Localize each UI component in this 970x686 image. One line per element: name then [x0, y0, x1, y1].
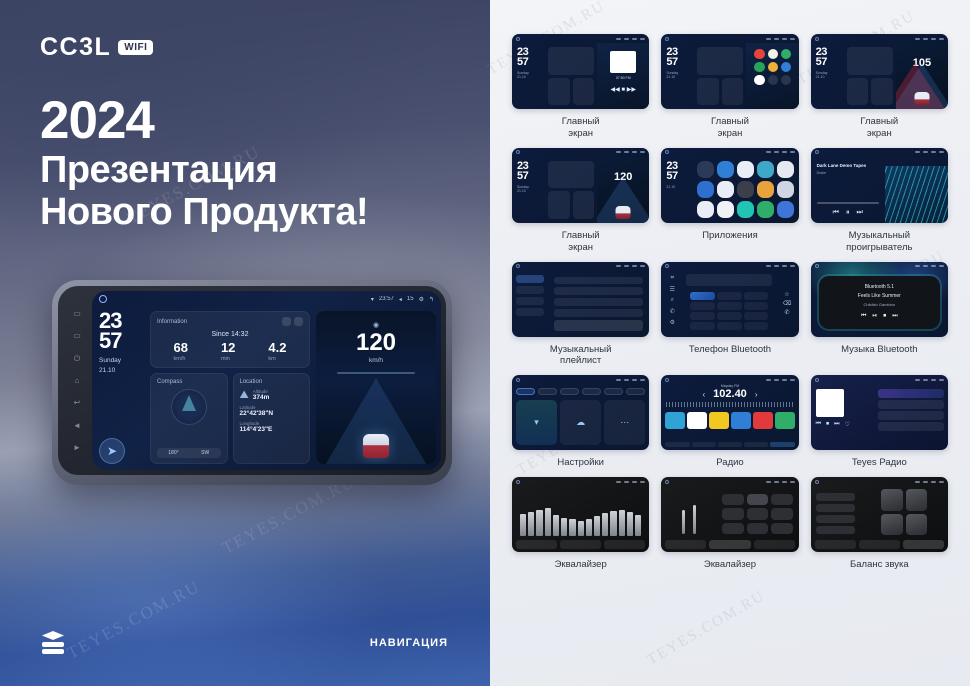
- more-card[interactable]: ⋯: [604, 400, 645, 445]
- tab-sound[interactable]: [538, 388, 557, 395]
- gallery-caption: Настройки: [557, 457, 604, 469]
- hero-panel: TEYES.COM.RU TEYES.COM.RU TEYES.COM.RU T…: [0, 0, 490, 686]
- next-icon[interactable]: ⏭: [892, 313, 897, 320]
- gallery-caption: Teyes Радио: [852, 457, 907, 469]
- altitude-value: 374m: [253, 394, 270, 401]
- logo-model: CC3L: [40, 33, 111, 62]
- gallery-item[interactable]: 2357Sunday21.10 105 Главный экран: [811, 34, 948, 140]
- thumbnail-radio[interactable]: Mayday FM ‹ 102.40 ›: [661, 375, 798, 450]
- longitude-value: 114°4'23"E: [240, 426, 304, 433]
- call-log-icon[interactable]: ✆: [670, 308, 675, 315]
- back-key[interactable]: ↩: [73, 398, 82, 407]
- dash-bezel: ▭ ▭ ⏻ ⌂ ↩ ◄ ► ▾ 23:57 ◂ 15: [58, 286, 446, 475]
- gallery-caption: Телефон Bluetooth: [689, 344, 771, 356]
- gallery-item[interactable]: Музыкальный плейлист: [512, 262, 649, 368]
- gallery-item[interactable]: Эквалайзер: [661, 477, 798, 571]
- location-card[interactable]: Location ⛰ Altitude 374m: [233, 373, 311, 464]
- home-key[interactable]: ⌂: [73, 376, 82, 385]
- information-card[interactable]: Information Since 14:32 68 km/h: [150, 311, 310, 368]
- speed-value: 120: [356, 331, 396, 355]
- gallery-caption: Баланс звука: [850, 559, 909, 571]
- altitude-row: ⛰ Altitude 374m: [240, 389, 304, 401]
- bluetooth-card[interactable]: Bluetooth 5.1 Feels Like Summer Childish…: [819, 276, 940, 329]
- clock-day: Sunday: [99, 357, 144, 365]
- refresh-icon[interactable]: [282, 317, 291, 326]
- thumbnail-bt-phone[interactable]: ⌗ ☰ ⌕ ✆ ⚙: [661, 262, 798, 337]
- stat-value: 4.2: [268, 341, 286, 354]
- thumbnail-settings[interactable]: ▾ ☁ ⋯: [512, 375, 649, 450]
- side-key-strip[interactable]: ▭ ▭ ⏻ ⌂ ↩ ◄ ►: [66, 302, 88, 459]
- clock-date: 21.10: [99, 367, 144, 375]
- gallery-item[interactable]: Эквалайзер: [512, 477, 649, 571]
- stat-unit: min: [221, 356, 235, 362]
- stop-icon[interactable]: ⏹: [883, 313, 886, 320]
- thumbnail-grid: 2357Sunday21.10 07:50 FM ◀◀ ■ ▶▶ Главный…: [512, 34, 948, 571]
- radio-next-icon[interactable]: ›: [755, 390, 758, 399]
- compass-title: Compass: [157, 379, 182, 385]
- stat-unit: km/h: [173, 356, 187, 362]
- gallery-item[interactable]: Dark Lane Demo Tapes Drake ⏮ ⏸ ⏭: [811, 148, 948, 254]
- gallery-caption: Музыкальный проигрыватель: [846, 230, 912, 254]
- eject-key[interactable]: ▭: [73, 331, 82, 340]
- compass-heading: 180°: [168, 450, 178, 456]
- stat-unit: km: [268, 356, 286, 362]
- equalizer-tabs[interactable]: [516, 540, 645, 549]
- thumbnail-teyes-radio[interactable]: ⏮ ⏹ ⏭ ♡: [811, 375, 948, 450]
- pause-icon[interactable]: ⏸: [846, 209, 850, 217]
- tab-wifi[interactable]: [516, 388, 535, 395]
- home-icon: [516, 37, 520, 41]
- radio-frequency: 102.40: [713, 388, 747, 400]
- album-art: [816, 389, 844, 417]
- location-title: Location: [240, 379, 263, 385]
- gallery-caption: Радио: [716, 457, 743, 469]
- watermark: TEYES.COM.RU: [645, 588, 769, 669]
- information-stats: 68 km/h 12 min 4.2 km: [157, 341, 303, 362]
- navigation-button[interactable]: ➤: [99, 438, 125, 464]
- gallery-item[interactable]: 235721.10 Приложения: [661, 148, 798, 254]
- gallery-item[interactable]: 2357Sunday21.10 120 Главный экран: [512, 148, 649, 254]
- gallery-row: 2357Sunday21.10 120 Главный экран: [512, 148, 948, 254]
- track-artist: Childish Gambino: [864, 302, 896, 307]
- gallery-item[interactable]: ⌗ ☰ ⌕ ✆ ⚙: [661, 262, 798, 368]
- contacts-icon[interactable]: ☰: [670, 286, 675, 293]
- gallery-caption: Главный экран: [562, 230, 600, 254]
- screens-gallery: TEYES.COM.RU TEYES.COM.RU TEYES.COM.RU T…: [490, 0, 970, 686]
- latitude-row: Latitude 22°42'38"N: [240, 405, 304, 417]
- clock-column: 23 57 Sunday 21.10 ➤: [99, 311, 144, 464]
- gallery-caption: Эквалайзер: [704, 559, 756, 571]
- headline: 2024 Презентация Нового Продукта!: [40, 93, 368, 234]
- previous-icon[interactable]: ⏮: [816, 421, 821, 428]
- compass-readout: 180° SW: [157, 448, 221, 458]
- stat-value: 68: [173, 341, 187, 354]
- album-art: [610, 51, 636, 73]
- gallery-row: Музыкальный плейлист ⌗ ☰ ⌕ ✆ ⚙: [512, 262, 948, 368]
- dialpad-icon[interactable]: ⌗: [671, 275, 674, 282]
- logo-wifi-badge: WIFI: [118, 40, 153, 55]
- bt-controls[interactable]: ⏮ ⏯ ⏹ ⏭: [861, 313, 898, 320]
- gallery-caption: Главный экран: [711, 116, 749, 140]
- presentation-page: TEYES.COM.RU TEYES.COM.RU TEYES.COM.RU T…: [0, 0, 970, 686]
- app-icon-grid[interactable]: [694, 157, 798, 223]
- gallery-item[interactable]: Баланс звука: [811, 477, 948, 571]
- mountain-icon: ⛰: [240, 390, 249, 401]
- screen-body: 23 57 Sunday 21.10 ➤ Information: [92, 307, 441, 470]
- carplay-card[interactable]: ☁: [560, 400, 601, 445]
- information-header: Information: [157, 317, 303, 326]
- playlist-rows[interactable]: [548, 271, 650, 337]
- headline-year: 2024: [40, 93, 368, 149]
- track-title: Feels Like Summer: [858, 293, 901, 299]
- thumbnail-home-media[interactable]: 2357Sunday21.10 07:50 FM ◀◀ ■ ▶▶: [512, 34, 649, 109]
- radio-presets[interactable]: [661, 409, 798, 431]
- gallery-item[interactable]: Mayday FM ‹ 102.40 ›: [661, 375, 798, 469]
- drive-view[interactable]: ◉ 120 km/h: [316, 311, 436, 464]
- wifi-card[interactable]: ▾: [516, 400, 557, 445]
- backspace-icon[interactable]: ⌫: [783, 300, 791, 307]
- layers-icon[interactable]: [42, 631, 64, 654]
- status-volume: 15: [407, 296, 414, 302]
- radio-prev-icon[interactable]: ‹: [702, 390, 705, 399]
- wifi-icon: ▾: [371, 296, 374, 303]
- star-icon[interactable]: ☆: [784, 291, 789, 298]
- mute-key[interactable]: ▭: [73, 309, 82, 318]
- thumbnail-music-playlist[interactable]: [512, 262, 649, 337]
- thumbnail-equalizer-bars[interactable]: [512, 477, 649, 552]
- thumbnail-sound-balance[interactable]: [811, 477, 948, 552]
- clock-minutes: 57: [99, 331, 144, 351]
- gallery-caption: Главный экран: [860, 116, 898, 140]
- next-icon[interactable]: ⏭: [856, 209, 862, 217]
- previous-icon[interactable]: ⏮: [833, 209, 839, 217]
- gallery-caption: Музыка Bluetooth: [841, 344, 917, 356]
- station-list[interactable]: [874, 384, 948, 450]
- radio-dial[interactable]: [666, 402, 793, 407]
- home-icon[interactable]: [99, 295, 107, 303]
- previous-icon[interactable]: ⏮: [861, 313, 866, 320]
- product-logo: CC3L WIFI: [40, 33, 153, 62]
- settings-cards[interactable]: ▾ ☁ ⋯: [512, 397, 649, 450]
- thumbnail-home-drive2[interactable]: 2357Sunday21.10 120: [512, 148, 649, 223]
- gallery-caption: Главный экран: [562, 116, 600, 140]
- thumbnail-home-apps[interactable]: 2357Sunday21.10: [661, 34, 798, 109]
- volume-down-key[interactable]: ◄: [73, 421, 82, 430]
- compass-dial: [171, 389, 207, 425]
- stat-item: 4.2 km: [268, 341, 286, 362]
- gallery-row: ▾ ☁ ⋯ Настройки Mayday FM: [512, 375, 948, 469]
- track-artist: Drake: [817, 171, 879, 175]
- gallery-item[interactable]: ⏮ ⏹ ⏭ ♡ Teyes Радио: [811, 375, 948, 469]
- head-unit-screen[interactable]: ▾ 23:57 ◂ 15 ⚙ ↰ 23 57 Sunday 21.10: [92, 291, 441, 470]
- balance-tabs[interactable]: [815, 540, 944, 549]
- compass-card[interactable]: Compass 180° SW: [150, 373, 228, 464]
- gallery-item[interactable]: ▾ ☁ ⋯ Настройки: [512, 375, 649, 469]
- widget-column: Information Since 14:32 68 km/h: [150, 311, 310, 464]
- headline-line1: Презентация: [40, 149, 368, 192]
- gallery-caption: Приложения: [702, 230, 758, 242]
- longitude-row: Longitude 114°4'23"E: [240, 421, 304, 433]
- progress-bar[interactable]: [817, 202, 879, 204]
- hero-footer-label: НАВИГАЦИЯ: [370, 637, 448, 649]
- power-key[interactable]: ⏻: [73, 354, 82, 363]
- thumbnail-app-grid[interactable]: 235721.10: [661, 148, 798, 223]
- call-icon[interactable]: ✆: [784, 309, 789, 316]
- head-unit: ▭ ▭ ⏻ ⌂ ↩ ◄ ► ▾ 23:57 ◂ 15: [52, 280, 452, 485]
- stop-icon[interactable]: ⏹: [826, 421, 829, 428]
- gallery-item[interactable]: 2357Sunday21.10 07:50 FM ◀◀ ■ ▶▶ Главный…: [512, 34, 649, 140]
- gallery-caption: Музыкальный плейлист: [550, 344, 611, 368]
- back-arrow-icon[interactable]: ↰: [429, 296, 434, 303]
- settings-tabs[interactable]: [512, 384, 649, 397]
- speed-unit: km/h: [369, 357, 383, 364]
- wave-art: [885, 166, 948, 223]
- thumbnail-equalizer-presets[interactable]: [661, 477, 798, 552]
- tab-system[interactable]: [626, 388, 645, 395]
- lower-widgets: Compass 180° SW Location: [150, 373, 310, 464]
- stat-value: 12: [221, 341, 235, 354]
- gallery-caption: Эквалайзер: [555, 559, 607, 571]
- expand-icon[interactable]: [294, 317, 303, 326]
- hero-footer: НАВИГАЦИЯ: [0, 631, 490, 654]
- compass-direction: SW: [201, 450, 209, 456]
- play-pause-icon[interactable]: ⏯: [872, 313, 877, 320]
- gallery-item[interactable]: Bluetooth 5.1 Feels Like Summer Childish…: [811, 262, 948, 368]
- gallery-row: Эквалайзер: [512, 477, 948, 571]
- headline-line2: Нового Продукта!: [40, 191, 368, 234]
- track-title: Dark Lane Demo Tapes: [817, 163, 879, 168]
- status-bar: ▾ 23:57 ◂ 15 ⚙ ↰: [92, 291, 441, 307]
- search-icon[interactable]: ⌕: [671, 297, 674, 304]
- equalizer-tabs[interactable]: [665, 540, 794, 549]
- thumbnail-bt-music[interactable]: Bluetooth 5.1 Feels Like Summer Childish…: [811, 262, 948, 337]
- information-title: Information: [157, 319, 187, 325]
- player-controls[interactable]: ⏮ ⏸ ⏭: [817, 209, 879, 217]
- tab-general[interactable]: [604, 388, 623, 395]
- bluetooth-version: Bluetooth 5.1: [865, 284, 894, 290]
- thumbnail-music-player[interactable]: Dark Lane Demo Tapes Drake ⏮ ⏸ ⏭: [811, 148, 948, 223]
- teyes-controls[interactable]: ⏮ ⏹ ⏭ ♡: [816, 421, 869, 428]
- speed-icon: ◉: [373, 321, 379, 329]
- car-graphic: [363, 434, 389, 458]
- stat-item: 12 min: [221, 341, 235, 362]
- tab-display[interactable]: [560, 388, 579, 395]
- stat-item: 68 km/h: [173, 341, 187, 362]
- dialpad[interactable]: [686, 288, 772, 334]
- volume-icon: ◂: [399, 296, 402, 303]
- favorite-icon[interactable]: ♡: [844, 421, 849, 428]
- gallery-row: 2357Sunday21.10 07:50 FM ◀◀ ■ ▶▶ Главный…: [512, 34, 948, 140]
- latitude-value: 22°42'38"N: [240, 410, 304, 417]
- status-clock: 23:57: [379, 296, 394, 302]
- information-since: Since 14:32: [157, 331, 303, 338]
- settings-icon[interactable]: ⚙: [670, 319, 675, 326]
- gallery-item[interactable]: 2357Sunday21.10 Главный экран: [661, 34, 798, 140]
- tab-theme[interactable]: [582, 388, 601, 395]
- volume-up-key[interactable]: ►: [73, 443, 82, 452]
- gear-icon[interactable]: ⚙: [419, 296, 424, 303]
- thumbnail-home-drive[interactable]: 2357Sunday21.10 105: [811, 34, 948, 109]
- next-icon[interactable]: ⏭: [834, 421, 839, 428]
